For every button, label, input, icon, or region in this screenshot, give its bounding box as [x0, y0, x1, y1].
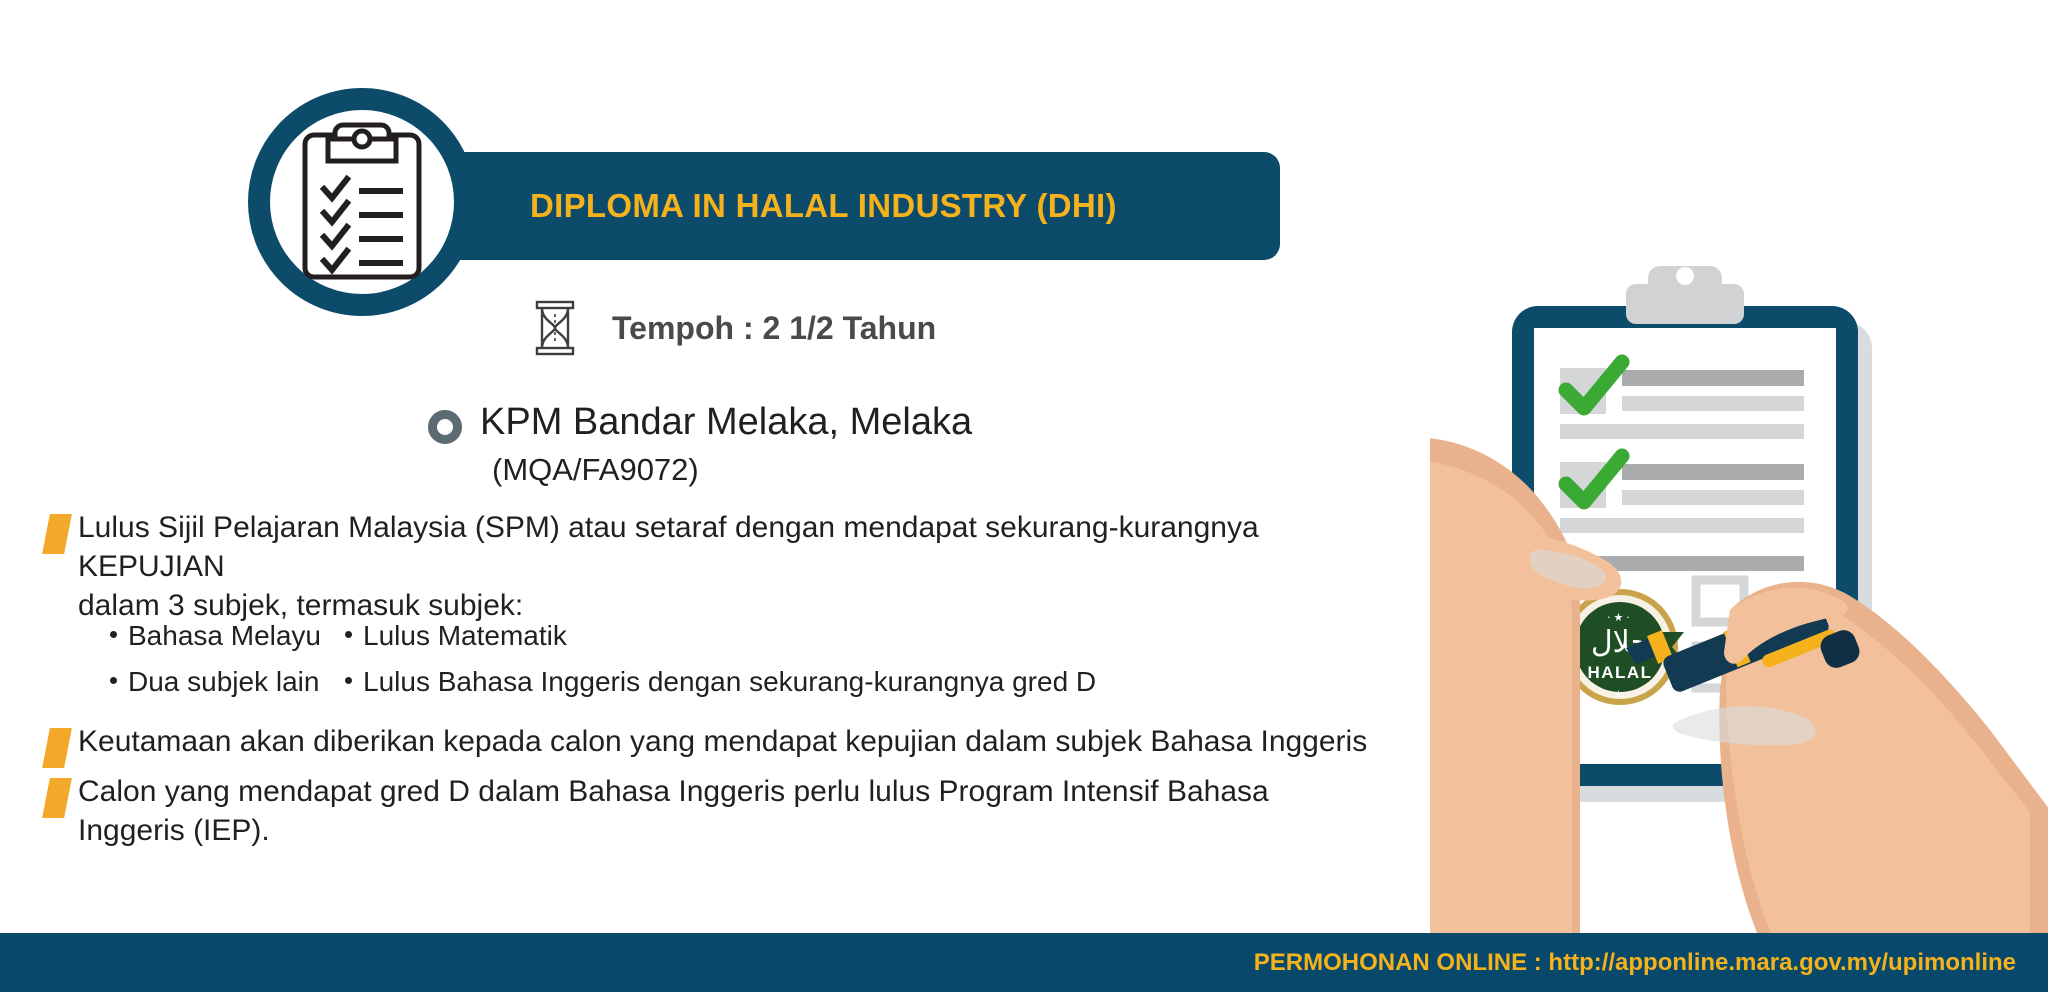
- program-title-bar: DIPLOMA IN HALAL INDUSTRY (DHI): [420, 152, 1280, 260]
- location-row: KPM Bandar Melaka, Melaka: [428, 402, 972, 444]
- svg-text:·★·: ·★·: [1607, 688, 1633, 701]
- dot-bullet-icon: [345, 677, 352, 684]
- list-item: Lulus Bahasa Inggeris dengan sekurang-ku…: [345, 666, 1096, 698]
- requirement-text: Calon yang mendapat gred D dalam Bahasa …: [78, 772, 1269, 850]
- duration-label: Tempoh : 2 1/2 Tahun: [612, 310, 936, 347]
- yellow-bullet-icon: [42, 778, 72, 818]
- subject-sublist: Bahasa Melayu Lulus Matematik Dua subjek…: [110, 620, 1096, 698]
- hands-holding-clipboard-with-halal-seal-illustration: حلال HALAL ·★· ·★·: [1430, 250, 2048, 940]
- list-item: Calon yang mendapat gred D dalam Bahasa …: [46, 772, 1446, 850]
- requirement-line-1: Keutamaan akan diberikan kepada calon ya…: [78, 725, 1367, 758]
- list-item: Bahasa Melayu: [110, 620, 345, 652]
- requirement-text: Lulus Sijil Pelajaran Malaysia (SPM) ata…: [78, 508, 1406, 625]
- online-application-url[interactable]: PERMOHONAN ONLINE : http://apponline.mar…: [1254, 949, 2016, 977]
- page-title: DIPLOMA IN HALAL INDUSTRY (DHI): [530, 187, 1117, 225]
- requirement-line-1: Lulus Sijil Pelajaran Malaysia (SPM) ata…: [78, 511, 1259, 583]
- dot-bullet-icon: [110, 677, 117, 684]
- requirements-list: Lulus Sijil Pelajaran Malaysia (SPM) ata…: [46, 508, 1406, 629]
- footer-bar: PERMOHONAN ONLINE : http://apponline.mar…: [0, 933, 2048, 992]
- yellow-bullet-icon: [42, 728, 72, 768]
- dot-bullet-icon: [110, 631, 117, 638]
- hourglass-icon: [534, 300, 576, 356]
- subject-label: Lulus Matematik: [363, 620, 567, 652]
- poster-page: DIPLOMA IN HALAL INDUSTRY (DHI) Tempoh :…: [0, 0, 2048, 992]
- list-item: Dua subjek lain: [110, 666, 345, 698]
- list-item: Keutamaan akan diberikan kepada calon ya…: [46, 722, 1446, 768]
- location-name: KPM Bandar Melaka, Melaka: [480, 402, 972, 443]
- subject-label: Lulus Bahasa Inggeris dengan sekurang-ku…: [363, 666, 1096, 698]
- subject-label: Bahasa Melayu: [128, 620, 321, 652]
- svg-text:HALAL: HALAL: [1587, 663, 1652, 682]
- duration-row: Tempoh : 2 1/2 Tahun: [534, 300, 936, 356]
- subject-label: Dua subjek lain: [128, 666, 319, 698]
- list-item: Lulus Sijil Pelajaran Malaysia (SPM) ata…: [46, 508, 1406, 625]
- location-ring-icon: [428, 410, 462, 444]
- list-item: Lulus Matematik: [345, 620, 1096, 652]
- svg-text:·★·: ·★·: [1607, 611, 1633, 624]
- requirement-line-1: Calon yang mendapat gred D dalam Bahasa …: [78, 775, 1269, 808]
- location-code: (MQA/FA9072): [492, 452, 699, 488]
- yellow-bullet-icon: [42, 514, 72, 554]
- dot-bullet-icon: [345, 631, 352, 638]
- clipboard-checklist-icon: [248, 88, 476, 316]
- requirements-tail-list: Keutamaan akan diberikan kepada calon ya…: [46, 722, 1446, 854]
- requirement-text: Keutamaan akan diberikan kepada calon ya…: [78, 722, 1367, 761]
- requirement-line-2: Inggeris (IEP).: [78, 811, 1269, 850]
